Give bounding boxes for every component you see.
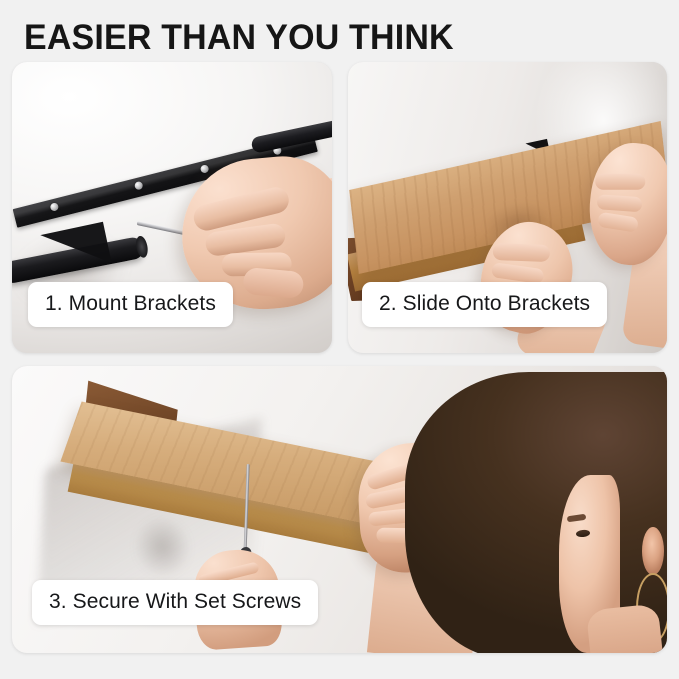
neck xyxy=(586,604,664,653)
step-2-caption: 2. Slide Onto Brackets xyxy=(362,282,607,327)
step-1-caption: 1. Mount Brackets xyxy=(28,282,233,327)
step-card-2[interactable]: 2. Slide Onto Brackets xyxy=(348,62,667,353)
finger xyxy=(597,212,639,233)
ear xyxy=(642,527,664,576)
finger xyxy=(596,174,646,190)
step-card-1[interactable]: 1. Mount Brackets xyxy=(12,62,332,353)
woman-head xyxy=(405,372,667,653)
finger xyxy=(493,243,551,262)
step-3-caption: 3. Secure With Set Screws xyxy=(32,580,318,625)
finger xyxy=(597,194,643,212)
step-card-3[interactable]: 3. Secure With Set Screws xyxy=(12,366,667,653)
page-title: EASIER THAN YOU THINK xyxy=(24,18,454,58)
thumb xyxy=(241,267,303,299)
steps-grid: 1. Mount Brackets xyxy=(12,62,667,653)
